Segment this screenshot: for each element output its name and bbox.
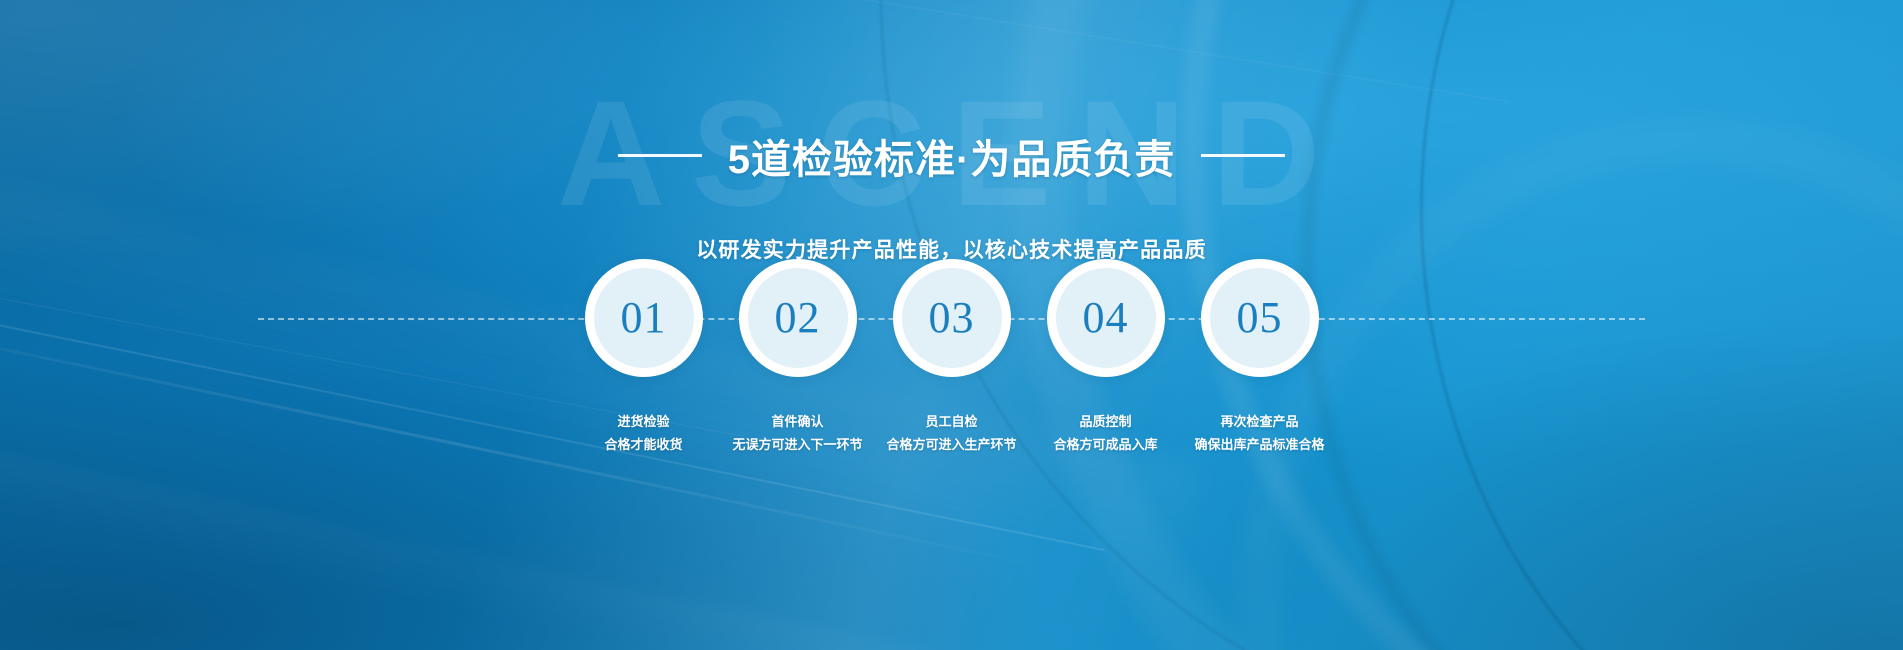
quality-standards-banner: ASCEND 5道检验标准·为品质负责 以研发实力提升产品性能，以核心技术提高产…: [0, 0, 1903, 650]
heading-block: 5道检验标准·为品质负责 以研发实力提升产品性能，以核心技术提高产品品质: [0, 100, 1903, 264]
step-title: 员工自检: [925, 414, 977, 429]
step-circle[interactable]: 04: [1047, 259, 1165, 377]
title-row: 5道检验标准·为品质负责: [0, 100, 1903, 212]
step-caption: 进货检验合格才能收货: [604, 411, 682, 457]
title-rule-right-icon: [1201, 154, 1285, 157]
step-number: 05: [1237, 296, 1283, 340]
steps-section: 01进货检验合格才能收货02首件确认无误方可进入下一环节03员工自检合格方可进入…: [0, 259, 1903, 559]
step-number: 04: [1083, 296, 1129, 340]
step-title: 进货检验: [617, 414, 669, 429]
step-number: 02: [775, 296, 821, 340]
step-item[interactable]: 02首件确认无误方可进入下一环节: [728, 259, 868, 457]
step-title: 再次检查产品: [1220, 414, 1298, 429]
step-circle[interactable]: 02: [739, 259, 857, 377]
step-item[interactable]: 01进货检验合格才能收货: [574, 259, 714, 457]
step-description: 无误方可进入下一环节: [732, 434, 862, 457]
step-circle[interactable]: 05: [1201, 259, 1319, 377]
step-description: 合格才能收货: [604, 434, 682, 457]
steps-row: 01进货检验合格才能收货02首件确认无误方可进入下一环节03员工自检合格方可进入…: [0, 259, 1903, 457]
page-title: 5道检验标准·为品质负责: [728, 127, 1176, 185]
step-description: 合格方可进入生产环节: [886, 434, 1016, 457]
step-description: 合格方可成品入库: [1053, 434, 1157, 457]
step-number: 01: [621, 296, 667, 340]
step-circle[interactable]: 03: [893, 259, 1011, 377]
step-title: 首件确认: [771, 414, 823, 429]
step-caption: 员工自检合格方可进入生产环节: [886, 411, 1016, 457]
step-item[interactable]: 03员工自检合格方可进入生产环节: [882, 259, 1022, 457]
step-caption: 再次检查产品确保出库产品标准合格: [1194, 411, 1324, 457]
step-description: 确保出库产品标准合格: [1194, 434, 1324, 457]
step-circle[interactable]: 01: [585, 259, 703, 377]
step-item[interactable]: 05再次检查产品确保出库产品标准合格: [1190, 259, 1330, 457]
step-number: 03: [929, 296, 975, 340]
step-item[interactable]: 04品质控制合格方可成品入库: [1036, 259, 1176, 457]
step-title: 品质控制: [1079, 414, 1131, 429]
title-rule-left-icon: [618, 154, 702, 157]
step-caption: 品质控制合格方可成品入库: [1053, 411, 1157, 457]
step-caption: 首件确认无误方可进入下一环节: [732, 411, 862, 457]
